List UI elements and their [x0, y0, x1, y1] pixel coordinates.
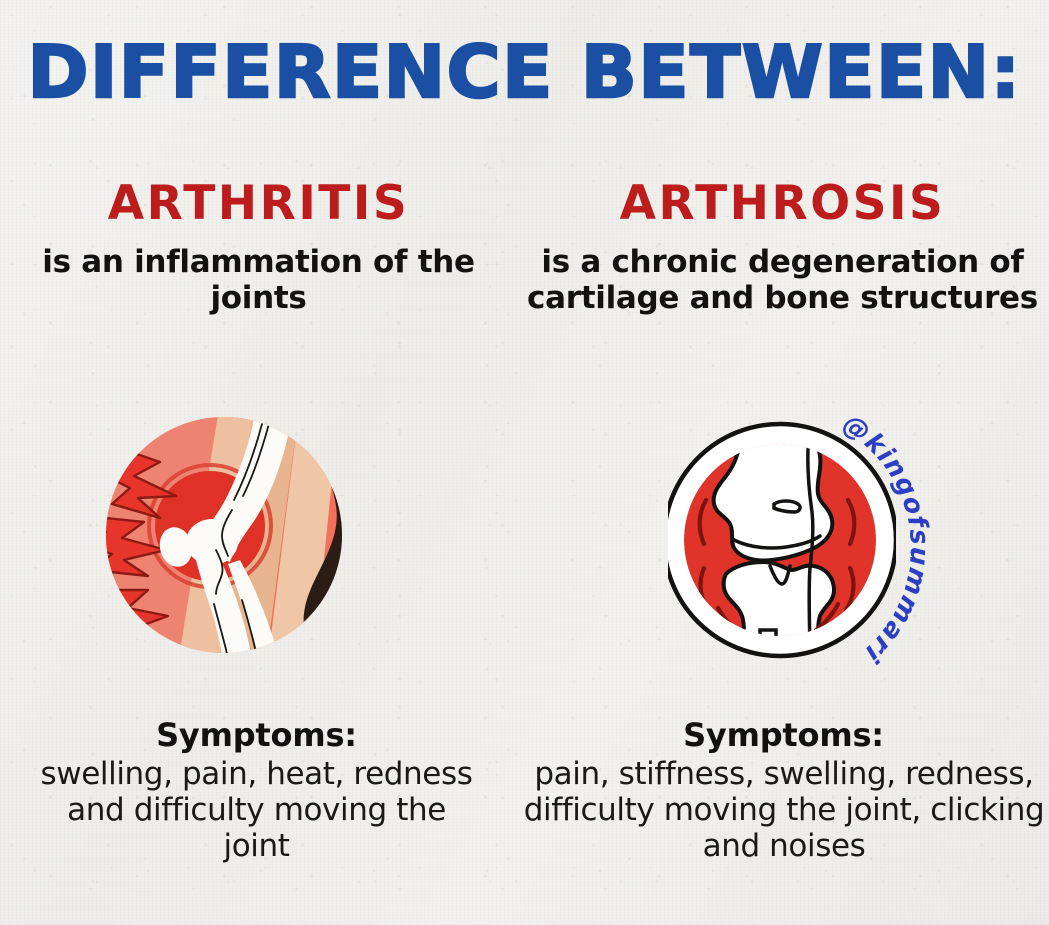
- disease-definition-arthritis: is an inflammation of the joints: [24, 244, 494, 317]
- infographic-canvas: DIFFERENCE BETWEEN: ARTHRITIS is an infl…: [0, 0, 1049, 925]
- column-arthrosis: ARTHROSIS is a chronic degeneration of c…: [530, 178, 1035, 316]
- column-arthritis: ARTHRITIS is an inflammation of the join…: [6, 178, 511, 316]
- symptoms-arthrosis: Symptoms: pain, stiffness, swelling, red…: [531, 718, 1036, 865]
- symptoms-text-arthrosis: pain, stiffness, swelling, redness, diff…: [519, 756, 1049, 865]
- disease-heading-arthrosis: ARTHROSIS: [530, 178, 1035, 230]
- symptoms-label-arthritis: Symptoms:: [4, 718, 509, 754]
- disease-definition-arthrosis: is a chronic degeneration of cartilage a…: [520, 244, 1045, 317]
- arthrosis-degenerated-knee-illustration: [668, 408, 896, 670]
- symptoms-label-arthrosis: Symptoms:: [531, 718, 1036, 754]
- symptoms-arthritis: Symptoms: swelling, pain, heat, redness …: [4, 718, 509, 865]
- arthritis-inflamed-knee-illustration: [104, 414, 344, 657]
- disease-heading-arthritis: ARTHRITIS: [6, 178, 511, 230]
- page-title: DIFFERENCE BETWEEN:: [0, 36, 1049, 108]
- symptoms-text-arthritis: swelling, pain, heat, redness and diffic…: [37, 756, 477, 865]
